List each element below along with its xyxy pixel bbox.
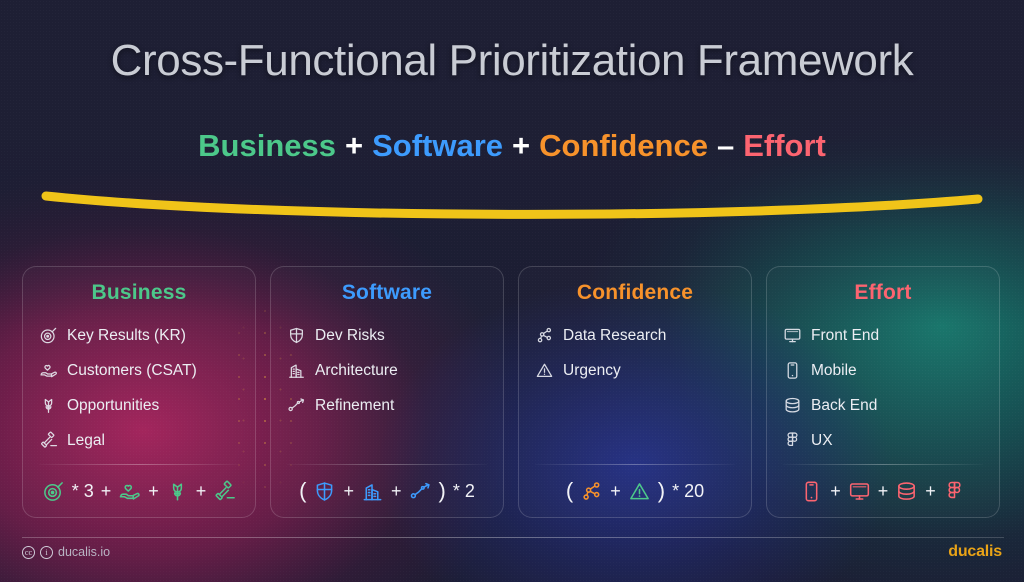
mobile-icon [800, 480, 823, 503]
formula-paren: ) [439, 478, 446, 504]
brand-logo: ducalis [948, 543, 1002, 561]
formula-text: + [391, 481, 402, 502]
list-item[interactable]: Urgency [535, 353, 735, 388]
list-item[interactable]: Architecture [287, 353, 487, 388]
formula-operator: + [336, 128, 372, 163]
underline-stroke [40, 190, 984, 224]
list-item[interactable]: Front End [783, 318, 983, 353]
target-icon [42, 480, 65, 503]
formula-text: + [101, 481, 112, 502]
formula-paren: ( [299, 478, 306, 504]
list-item[interactable]: Mobile [783, 353, 983, 388]
monitor-icon [783, 326, 802, 345]
headline-formula: Business+Software+Confidence–Effort [0, 128, 1024, 164]
list-item[interactable]: Dev Risks [287, 318, 487, 353]
monitor-icon [848, 480, 871, 503]
formula-text: + [610, 481, 621, 502]
gavel-icon [39, 431, 58, 450]
list-item-label: Opportunities [67, 397, 159, 415]
list-item[interactable]: Customers (CSAT) [39, 353, 239, 388]
criteria-cards: BusinessKey Results (KR)Customers (CSAT)… [22, 266, 1004, 518]
list-item-label: Customers (CSAT) [67, 362, 197, 380]
card-spacer [287, 423, 487, 464]
formula-text: + [148, 481, 159, 502]
formula-term-software: Software [372, 128, 503, 163]
tulip-icon [166, 480, 189, 503]
page-title: Cross-Functional Prioritization Framewor… [0, 36, 1024, 86]
card-spacer [535, 388, 735, 464]
list-item[interactable]: Back End [783, 388, 983, 423]
card-title: Confidence [535, 281, 735, 305]
list-item-label: Mobile [811, 362, 857, 380]
formula-text: + [925, 481, 936, 502]
list-item-label: Legal [67, 432, 105, 450]
card-effort[interactable]: EffortFront EndMobileBack EndUX+++ [766, 266, 1000, 518]
footer-divider [22, 537, 1004, 538]
card-formula: * 3+++ [39, 465, 239, 517]
creative-commons-icon: cc [22, 546, 35, 559]
list-item[interactable]: Legal [39, 423, 239, 458]
network-icon [535, 326, 554, 345]
tulip-icon [39, 396, 58, 415]
list-item[interactable]: Opportunities [39, 388, 239, 423]
formula-operator: + [503, 128, 539, 163]
figma-icon [783, 431, 802, 450]
list-item[interactable]: Key Results (KR) [39, 318, 239, 353]
list-item-label: Architecture [315, 362, 398, 380]
database-icon [783, 396, 802, 415]
list-item-label: Front End [811, 327, 879, 345]
warning-triangle-icon [535, 361, 554, 380]
card-title: Effort [783, 281, 983, 305]
formula-text: + [196, 481, 207, 502]
site-label: ducalis.io [58, 545, 110, 559]
slide-canvas: Cross-Functional Prioritization Framewor… [0, 0, 1024, 582]
list-item-label: Refinement [315, 397, 394, 415]
card-title: Software [287, 281, 487, 305]
formula-paren: ( [566, 478, 573, 504]
list-item[interactable]: UX [783, 423, 983, 458]
formula-term-effort: Effort [743, 128, 826, 163]
list-item[interactable]: Data Research [535, 318, 735, 353]
shield-icon [287, 326, 306, 345]
gavel-icon [213, 480, 236, 503]
building-icon [361, 480, 384, 503]
list-item-label: UX [811, 432, 833, 450]
mobile-icon [783, 361, 802, 380]
database-icon [895, 480, 918, 503]
formula-term-business: Business [198, 128, 336, 163]
list-item-label: Key Results (KR) [67, 327, 186, 345]
list-item-label: Data Research [563, 327, 666, 345]
attribution-icon: i [40, 546, 53, 559]
card-formula: +++ [783, 465, 983, 517]
trend-arrow-icon [409, 480, 432, 503]
formula-text: * 2 [453, 481, 475, 502]
formula-term-confidence: Confidence [539, 128, 708, 163]
shield-icon [313, 480, 336, 503]
formula-text: * 3 [72, 481, 94, 502]
card-software[interactable]: SoftwareDev RisksArchitectureRefinement(… [270, 266, 504, 518]
card-formula: (++)* 2 [287, 465, 487, 517]
formula-operator: – [708, 128, 743, 163]
target-icon [39, 326, 58, 345]
hand-heart-icon [39, 361, 58, 380]
trend-arrow-icon [287, 396, 306, 415]
list-item-label: Back End [811, 397, 877, 415]
list-item-label: Urgency [563, 362, 621, 380]
formula-text: + [830, 481, 841, 502]
formula-text: + [343, 481, 354, 502]
warning-triangle-icon [628, 480, 651, 503]
figma-icon [943, 480, 966, 503]
card-formula: (+)* 20 [535, 465, 735, 517]
list-item[interactable]: Refinement [287, 388, 487, 423]
card-business[interactable]: BusinessKey Results (KR)Customers (CSAT)… [22, 266, 256, 518]
license-attribution: cc i ducalis.io [22, 545, 110, 559]
formula-text: + [878, 481, 889, 502]
card-title: Business [39, 281, 239, 305]
formula-text: * 20 [672, 481, 704, 502]
list-item-label: Dev Risks [315, 327, 385, 345]
hand-heart-icon [118, 480, 141, 503]
formula-paren: ) [658, 478, 665, 504]
building-icon [287, 361, 306, 380]
network-icon [580, 480, 603, 503]
card-confidence[interactable]: ConfidenceData ResearchUrgency(+)* 20 [518, 266, 752, 518]
